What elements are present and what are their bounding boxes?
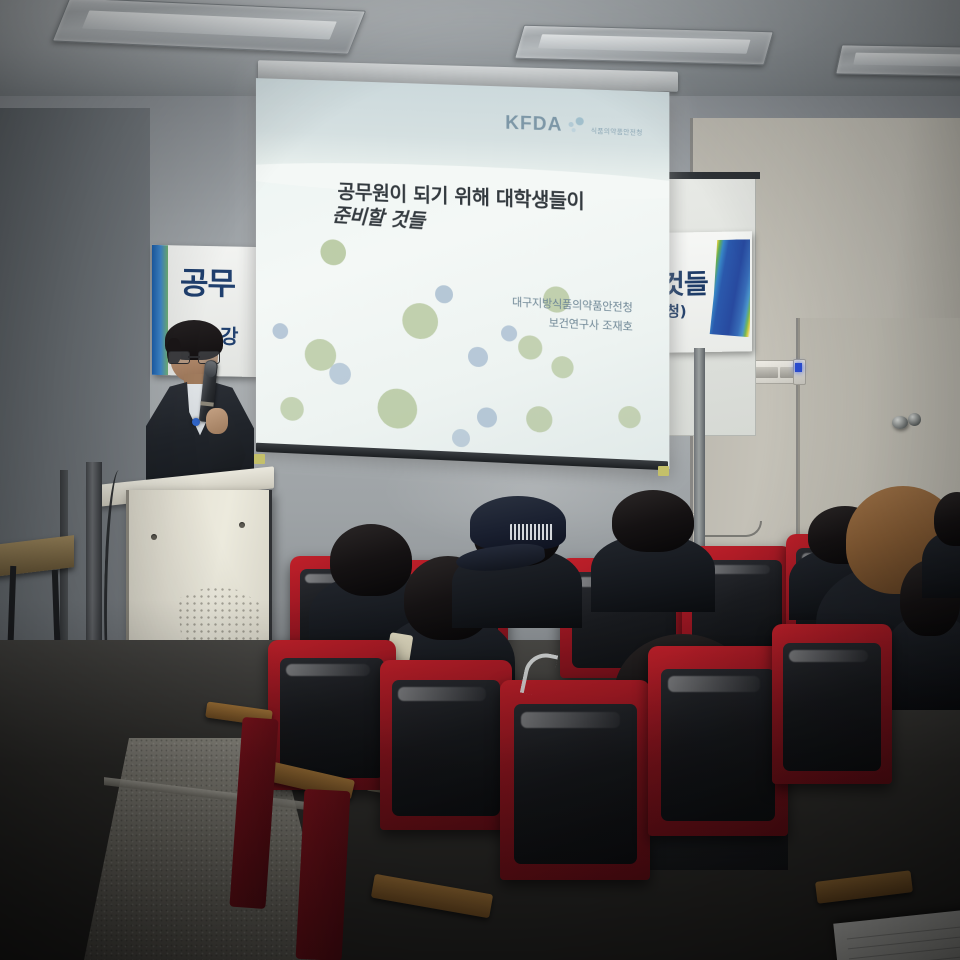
slide-bubble: [468, 347, 488, 368]
audience-head: [330, 524, 412, 596]
power-indicator-icon: [793, 359, 806, 385]
power-cord: [698, 521, 762, 537]
slide-bubble: [435, 285, 453, 304]
audience-member: [330, 524, 412, 596]
audience-hair: [934, 492, 960, 546]
ceiling-light-fixture: [835, 44, 960, 77]
audience-hair: [330, 524, 412, 596]
auditorium-seat: [648, 646, 788, 836]
slide-bubble-decoration: [256, 218, 669, 469]
door-handle-icon[interactable]: [892, 416, 908, 429]
kfda-wordmark: KFDA: [505, 113, 562, 137]
projection-screen-assembly: KFDA 식품의약품안전청 공무원이 되기 위해 대학생들이 준비할 것들 대구…: [250, 66, 682, 476]
screen-endcap: [658, 466, 669, 476]
audience-member: [474, 502, 560, 566]
ceiling-light-fixture: [514, 25, 774, 66]
auditorium-seat: [500, 680, 650, 880]
baseball-cap-icon: [470, 496, 566, 568]
seat-side-panel: [296, 789, 351, 960]
auditorium-seat: [772, 624, 892, 784]
slide-bubble: [477, 407, 497, 428]
auditorium-seat: [380, 660, 512, 830]
slide-bubble: [526, 405, 552, 433]
kfda-agency-name: 식품의약품안전청: [591, 125, 643, 140]
lecture-hall-photo: 것들 청) 공무 강 KFDA 식품의약품안전청 공무원이 되기 위해 대학생들…: [0, 0, 960, 960]
audience-hair: [612, 490, 694, 552]
slide-bubble: [321, 239, 347, 266]
audience-member: [612, 490, 694, 552]
slide-bubble: [329, 363, 351, 386]
slide-bubble: [402, 302, 438, 340]
kfda-dots-icon: [566, 117, 586, 138]
slide-bubble: [272, 323, 288, 340]
audience-member: [934, 492, 960, 546]
slide-bubble: [452, 429, 470, 448]
slide-bubble: [551, 356, 573, 379]
audience-head: [934, 492, 960, 546]
projection-screen: KFDA 식품의약품안전청 공무원이 되기 위해 대학생들이 준비할 것들 대구…: [256, 78, 669, 469]
door-lock-icon[interactable]: [908, 413, 921, 426]
rainbow-ribbon-graphic: [708, 239, 750, 338]
slide-bubble: [378, 388, 418, 430]
slide-subtitle: 대구지방식품의약품안전청 보건연구사 조재호: [512, 292, 633, 337]
slide-bubble: [280, 397, 303, 422]
banner-left-line1: 공무: [180, 257, 235, 303]
presenter-hand: [206, 408, 228, 434]
slide-bubble: [619, 405, 641, 428]
slide-bubble: [518, 335, 542, 360]
audience-head: [612, 490, 694, 552]
